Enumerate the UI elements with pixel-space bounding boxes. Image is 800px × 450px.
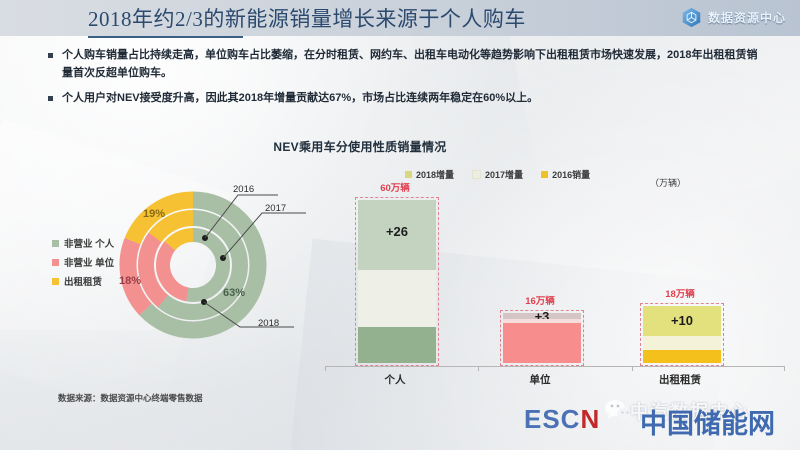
legend-label: 出租租赁 (64, 274, 102, 288)
bar-category-label: 单位 (495, 372, 585, 387)
bar-segment-2017 (643, 336, 721, 351)
bar-outline: +10 (640, 303, 724, 366)
legend-swatch-icon (472, 170, 481, 179)
donut-percent-unit: 18% (119, 275, 141, 287)
bar-category-label: 出租租赁 (635, 372, 725, 387)
legend-swatch-icon (52, 278, 59, 285)
legend-item-person: 非营业 个人 (52, 236, 114, 250)
bar-segment-2018: +26 (358, 200, 436, 270)
axis-tick (478, 366, 479, 371)
axis-tick (784, 366, 785, 371)
title-underline (88, 36, 243, 38)
bg-facet-4 (0, 330, 300, 450)
legend-swatch-icon (52, 240, 59, 247)
slide-canvas: 2018年约2/3的新能源销量增长来源于个人购车 数据资源中心 个人购车销量占比… (0, 0, 800, 450)
donut-chart: 19% 18% 63% (118, 190, 268, 340)
bar-total-label: 16万辆 (495, 293, 585, 307)
bar-segment-2017 (358, 270, 436, 327)
unit-note: （万辆） (650, 176, 686, 189)
legend-label: 2017增量 (485, 168, 523, 181)
brand-logo: 数据资源中心 (681, 7, 786, 28)
donut-callout-2016: 2016 (233, 184, 254, 195)
data-source-note: 数据来源：数据资源中心终端零售数据 (58, 392, 203, 404)
bar-category-label: 个人 (350, 372, 440, 387)
donut-callout-2018: 2018 (258, 318, 279, 329)
bar-increment-label: +10 (643, 313, 721, 328)
legend-swatch-icon (405, 171, 412, 178)
donut-percent-person: 63% (223, 287, 245, 299)
legend-label: 非营业 单位 (64, 255, 114, 269)
brand-name: 数据资源中心 (708, 9, 786, 26)
chart-title: NEV乘用车分使用性质销量情况 (0, 138, 800, 155)
legend-item-2016: 2016销量 (541, 168, 590, 181)
stacked-bar: +10 (643, 306, 721, 363)
legend-swatch-icon (541, 171, 548, 178)
donut-percent-rental: 19% (143, 208, 165, 220)
bullet-text: 个人用户对NEV接受度升高，因此其2018年增量贡献达67%，市场占比连续两年稳… (62, 90, 538, 108)
donut-svg (118, 190, 268, 340)
bar-segment-2016 (643, 350, 721, 363)
legend-label: 非营业 个人 (64, 236, 114, 250)
hexagon-cube-icon (681, 7, 702, 28)
list-item: 个人用户对NEV接受度升高，因此其2018年增量贡献达67%，市场占比连续两年稳… (48, 90, 764, 108)
page-title: 2018年约2/3的新能源销量增长来源于个人购车 (88, 3, 526, 33)
bullet-list: 个人购车销量占比持续走高，单位购车占比萎缩，在分时租赁、网约车、出租车电动化等趋… (48, 47, 764, 114)
legend-item-unit: 非营业 单位 (52, 255, 114, 269)
donut-callout-2017: 2017 (265, 203, 286, 214)
bar-axis-line (325, 366, 785, 367)
bullet-square-icon (48, 53, 53, 58)
legend-swatch-icon (52, 259, 59, 266)
bar-segment-2016 (358, 327, 436, 363)
watermark-escn: ESCN (524, 404, 600, 435)
bar-outline: +3 (500, 310, 584, 366)
bar-outline: +26 (355, 197, 439, 366)
axis-tick (632, 366, 633, 371)
stacked-bar: +3 (503, 313, 581, 363)
legend-item-2017: 2017增量 (472, 168, 523, 181)
chart-title-text: NEV乘用车分使用性质销量情况 (273, 140, 446, 154)
donut-legend: 非营业 个人 非营业 单位 出租租赁 (52, 236, 114, 293)
bar-segment-2016 (503, 323, 581, 364)
bar-total-label: 60万辆 (350, 180, 440, 194)
watermark-escn-cn: 中国储能网 (640, 402, 775, 441)
stacked-bar: +26 (358, 200, 436, 363)
bar-increment-label: +26 (358, 224, 436, 239)
bar-segment-2018: +10 (643, 306, 721, 336)
legend-label: 2016销量 (552, 168, 590, 181)
bar-group-unit: 16万辆 +3 单位 (495, 196, 585, 366)
bullet-square-icon (48, 96, 53, 101)
watermark-escn-text: ESCN (524, 404, 600, 434)
bar-group-person: 60万辆 +26 个人 (350, 196, 440, 366)
bar-group-rental: 18万辆 +10 出租租赁 (635, 196, 725, 366)
bullet-text: 个人购车销量占比持续走高，单位购车占比萎缩，在分时租赁、网约车、出租车电动化等趋… (62, 47, 764, 83)
list-item: 个人购车销量占比持续走高，单位购车占比萎缩，在分时租赁、网约车、出租车电动化等趋… (48, 47, 764, 83)
bar-total-label: 18万辆 (635, 286, 725, 300)
bar-chart: 60万辆 +26 个人 16万辆 +3 (330, 196, 780, 366)
axis-tick (325, 366, 326, 371)
legend-item-rental: 出租租赁 (52, 274, 114, 288)
